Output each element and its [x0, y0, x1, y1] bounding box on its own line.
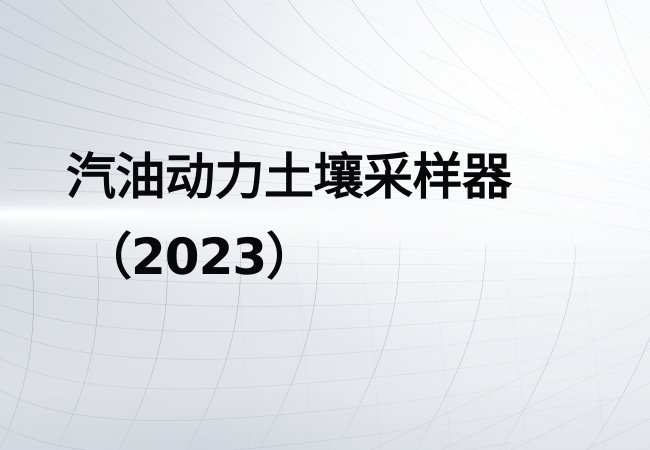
title-slide: 汽油动力土壤采样器 （2023） [0, 0, 650, 450]
slide-title-primary: 汽油动力土壤采样器 [66, 152, 512, 202]
title-block: 汽油动力土壤采样器 （2023） [0, 0, 650, 450]
slide-title-year: （2023） [82, 232, 315, 282]
